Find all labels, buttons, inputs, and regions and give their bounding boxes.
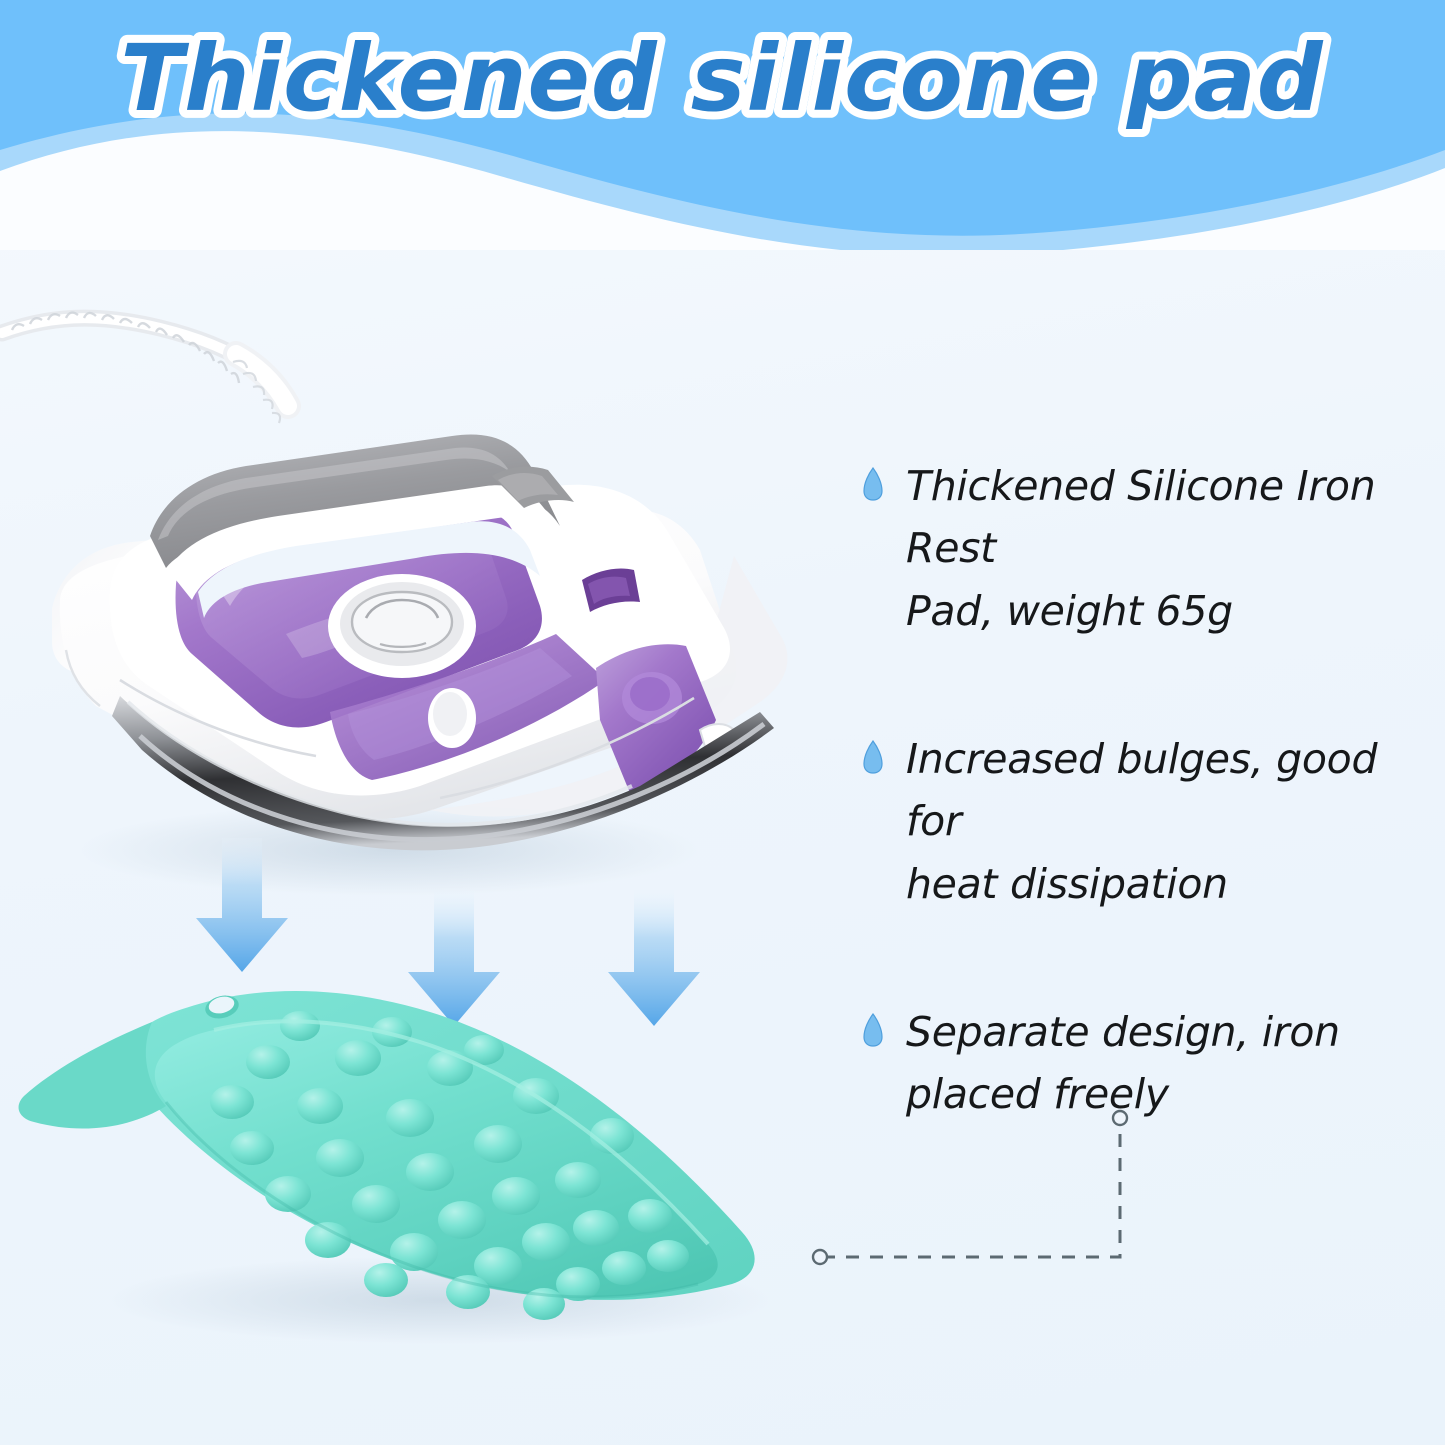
product-illustration [0, 250, 860, 1445]
feature-text: Increased bulges, good for heat dissipat… [906, 728, 1426, 915]
product-feature-infographic: Thickened silicone pad Thickened silicon… [0, 0, 1445, 1445]
product-stage [0, 250, 860, 1445]
feature-list: Thickened Silicone Iron Rest Pad, weight… [862, 455, 1437, 1126]
power-cord [2, 313, 288, 423]
iron-soleplate-bullet-icon [862, 467, 884, 501]
dimension-leader-line [790, 1090, 1150, 1280]
feature-text: Thickened Silicone Iron Rest Pad, weight… [906, 455, 1426, 642]
feature-line: Separate design, iron [906, 1008, 1340, 1056]
downward-motion-arrow [408, 890, 500, 1026]
leader-endpoint-start [813, 1250, 827, 1264]
leader-dashed-path [822, 1122, 1120, 1257]
leader-endpoint-end [1113, 1111, 1127, 1125]
iron-soleplate-bullet-icon [862, 740, 884, 774]
feature-item: Thickened Silicone Iron Rest Pad, weight… [862, 455, 1437, 642]
iron-soleplate-bullet-icon [862, 1013, 884, 1047]
leader-line-svg [790, 1090, 1150, 1280]
feature-line: Increased bulges, good for [906, 735, 1377, 845]
feature-line: heat dissipation [906, 860, 1228, 908]
feature-line: Pad, weight 65g [906, 587, 1233, 635]
feature-item: Increased bulges, good for heat dissipat… [862, 728, 1437, 915]
banner-wave-graphic [0, 0, 1445, 250]
downward-motion-arrow [608, 890, 700, 1026]
spray-button-inner [433, 692, 467, 736]
feature-line: Thickened Silicone Iron Rest [906, 462, 1375, 572]
pad-left-tab [19, 1022, 166, 1129]
silicone-iron-rest-pad [19, 991, 770, 1344]
steam-iron [52, 435, 787, 851]
iron-spray-nozzle-inner [630, 677, 670, 711]
header-banner: Thickened silicone pad Thickened silicon… [0, 0, 1445, 250]
